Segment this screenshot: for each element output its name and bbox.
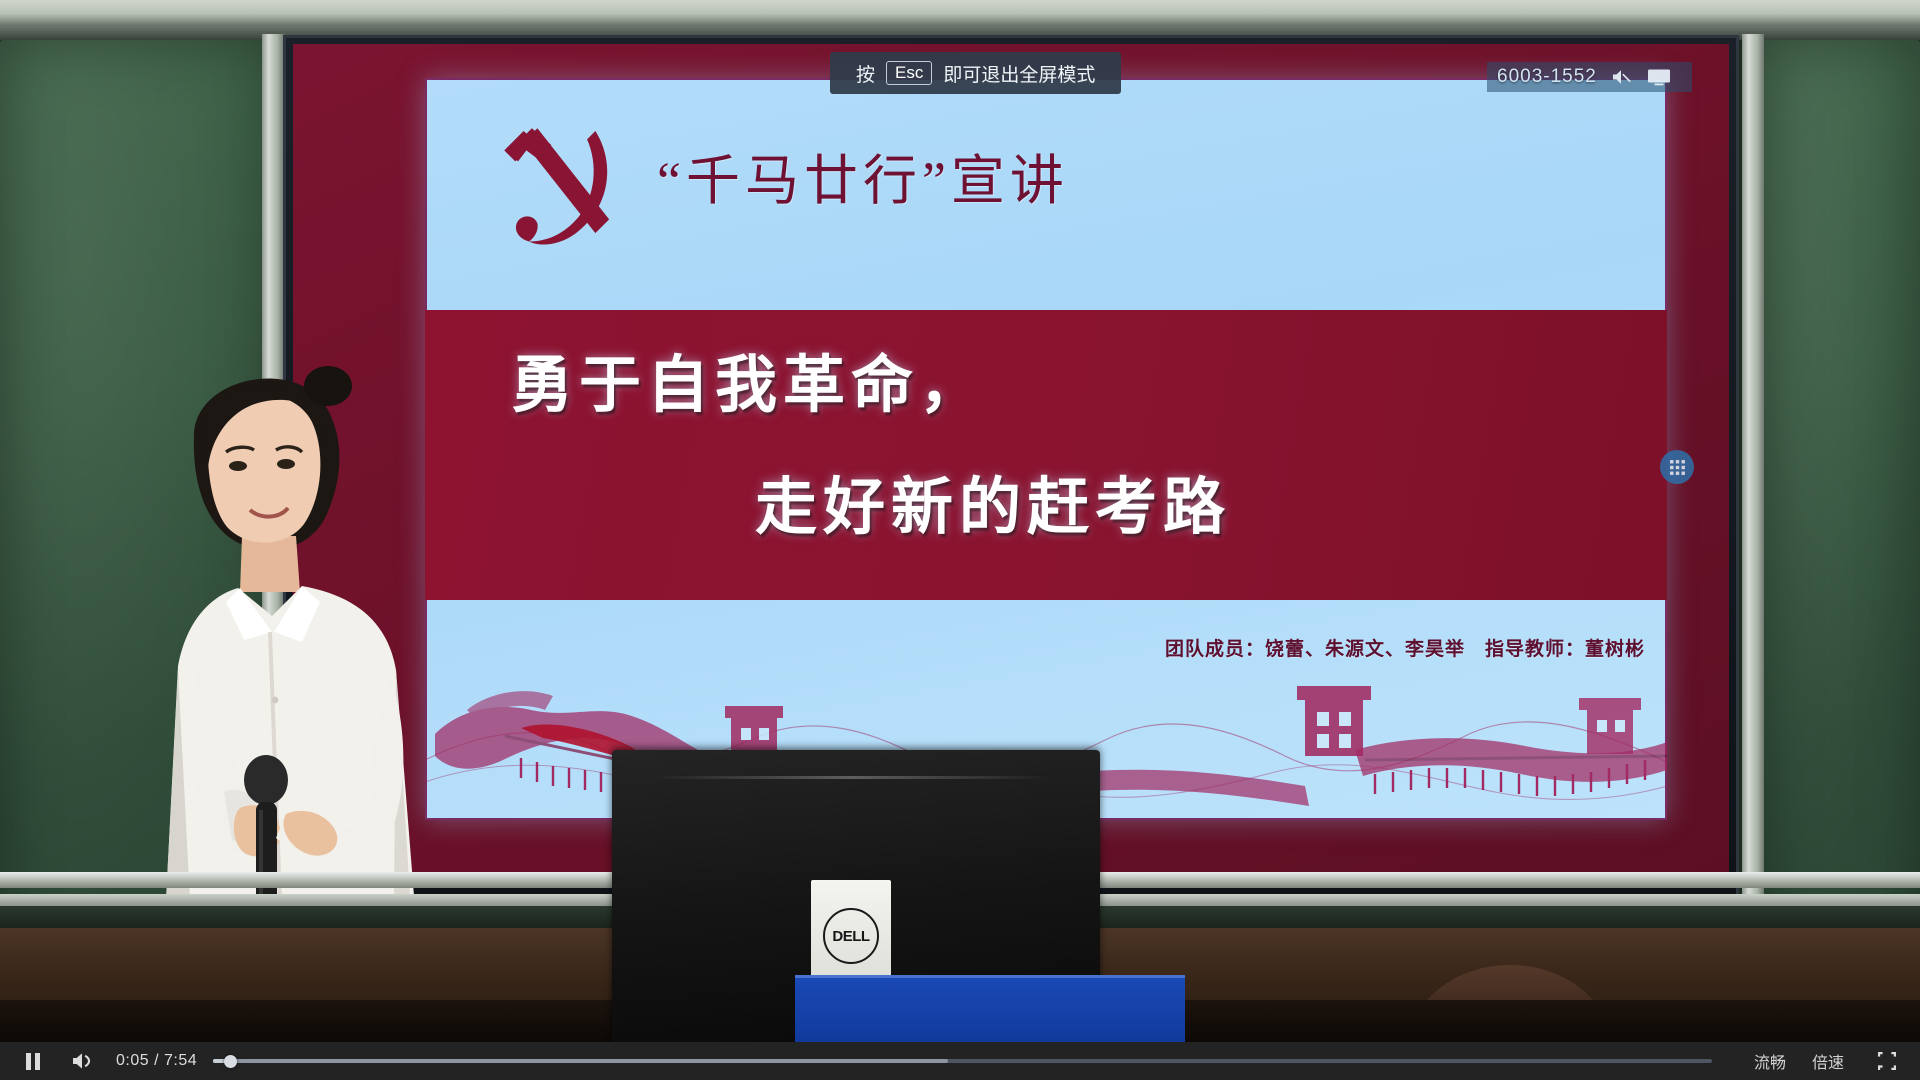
projector-code: 6003-1552 — [1497, 66, 1597, 88]
cpc-hammer-sickle-emblem — [495, 120, 635, 258]
progress-buffered — [213, 1059, 947, 1063]
pause-icon-bar-right — [35, 1053, 40, 1070]
grid-icon[interactable] — [1660, 450, 1694, 484]
grid-icon-glyph — [1669, 459, 1686, 476]
tooltip-prefix: 按 — [856, 60, 875, 87]
exit-fullscreen-button[interactable] — [1870, 1042, 1904, 1080]
monitor-seam — [652, 776, 1052, 779]
pause-button[interactable] — [16, 1042, 50, 1080]
slide-band-line-1: 勇于自我革命， — [511, 334, 987, 424]
progress-handle[interactable] — [224, 1055, 237, 1068]
playback-speed-selector[interactable]: 倍速 — [1812, 1049, 1844, 1073]
projector-osd-badge: 6003-1552 — [1487, 62, 1692, 92]
exit-fullscreen-icon — [1877, 1051, 1897, 1071]
fullscreen-exit-tooltip: 按 Esc 即可退出全屏模式 — [830, 52, 1121, 94]
slide-band-text-area: 勇于自我革命， 走好新的赶考路 — [425, 310, 1667, 600]
display-icon — [1647, 68, 1671, 86]
dell-logo-text: DELL — [832, 928, 869, 945]
projected-slide: “千马廿行”宣讲 勇于自我革命， 走好新的赶考路 团队成员：饶蕾、朱源文、李昊举… — [425, 78, 1667, 820]
tooltip-suffix: 即可退出全屏模式 — [943, 60, 1095, 87]
esc-key-badge: Esc — [886, 61, 932, 86]
pause-icon-bar-left — [26, 1053, 31, 1070]
volume-icon — [71, 1051, 95, 1071]
speaker-muted-icon — [1611, 68, 1633, 86]
progress-bar[interactable] — [213, 1042, 1712, 1080]
video-frame[interactable]: “千马廿行”宣讲 勇于自我革命， 走好新的赶考路 团队成员：饶蕾、朱源文、李昊举… — [0, 0, 1920, 1042]
video-player: “千马廿行”宣讲 勇于自我革命， 走好新的赶考路 团队成员：饶蕾、朱源文、李昊举… — [0, 0, 1920, 1080]
time-display: 0:05 / 7:54 — [116, 1052, 197, 1070]
blue-equipment-box — [795, 975, 1185, 1042]
quality-selector[interactable]: 流畅 — [1754, 1049, 1786, 1073]
volume-button[interactable] — [64, 1042, 102, 1080]
slide-heading: “千马廿行”宣讲 — [657, 136, 1069, 215]
slide-band-line-2: 走好新的赶考路 — [755, 456, 1231, 546]
dell-logo: DELL — [823, 908, 879, 964]
player-control-bar: 0:05 / 7:54 流畅 倍速 — [0, 1042, 1920, 1080]
